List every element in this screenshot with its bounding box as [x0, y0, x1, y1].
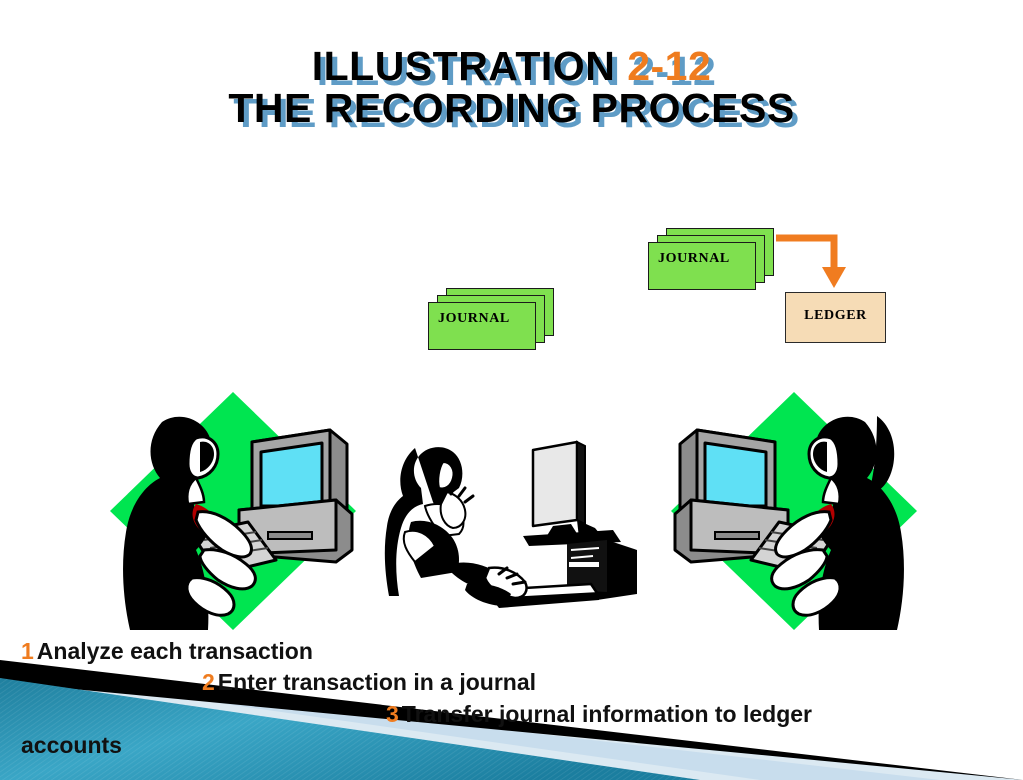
person-line-art — [385, 447, 527, 606]
person-at-computer-center-illustration — [381, 432, 649, 618]
title-line-1: ILLUSTRATION 2-12 — [0, 46, 1023, 88]
step-number-2: 2 — [202, 669, 215, 695]
title-main-text: ILLUSTRATION — [312, 43, 627, 89]
step-number-1: 1 — [21, 638, 34, 664]
flat-panel-monitor-icon — [523, 442, 621, 546]
step-item-3: 3Transfer journal information to ledger — [0, 699, 1023, 730]
journal-label: JOURNAL — [658, 251, 730, 267]
journal-to-ledger-arrow-icon — [770, 230, 850, 292]
title-illustration-number: 2-12 — [627, 43, 711, 89]
step-text-3: Transfer journal information to ledger — [402, 701, 812, 727]
step-text-1: Analyze each transaction — [37, 638, 313, 664]
journal-stack-second: JOURNAL — [648, 228, 766, 288]
journal-card-front: JOURNAL — [648, 242, 756, 290]
journal-card-front: JOURNAL — [428, 302, 536, 350]
page-title: ILLUSTRATION 2-12 THE RECORDING PROCESS — [0, 46, 1023, 130]
person-at-computer-right-illustration — [661, 382, 927, 640]
steps-list: 1Analyze each transaction 2Enter transac… — [0, 636, 1023, 761]
step-text-2: Enter transaction in a journal — [218, 669, 536, 695]
ledger-box: LEDGER — [785, 292, 886, 343]
step-item-1: 1Analyze each transaction — [0, 636, 1023, 667]
person-at-computer-left-illustration — [100, 382, 366, 640]
step-item-2: 2Enter transaction in a journal — [0, 667, 1023, 698]
journal-stack-first: JOURNAL — [428, 288, 546, 348]
title-line-2: THE RECORDING PROCESS — [0, 88, 1023, 130]
slide-canvas: ILLUSTRATION 2-12 THE RECORDING PROCESS … — [0, 0, 1023, 780]
step-number-3: 3 — [386, 701, 399, 727]
ledger-label: LEDGER — [786, 308, 885, 324]
step-item-3-wrap: accounts — [0, 730, 1023, 761]
journal-label: JOURNAL — [438, 311, 510, 327]
